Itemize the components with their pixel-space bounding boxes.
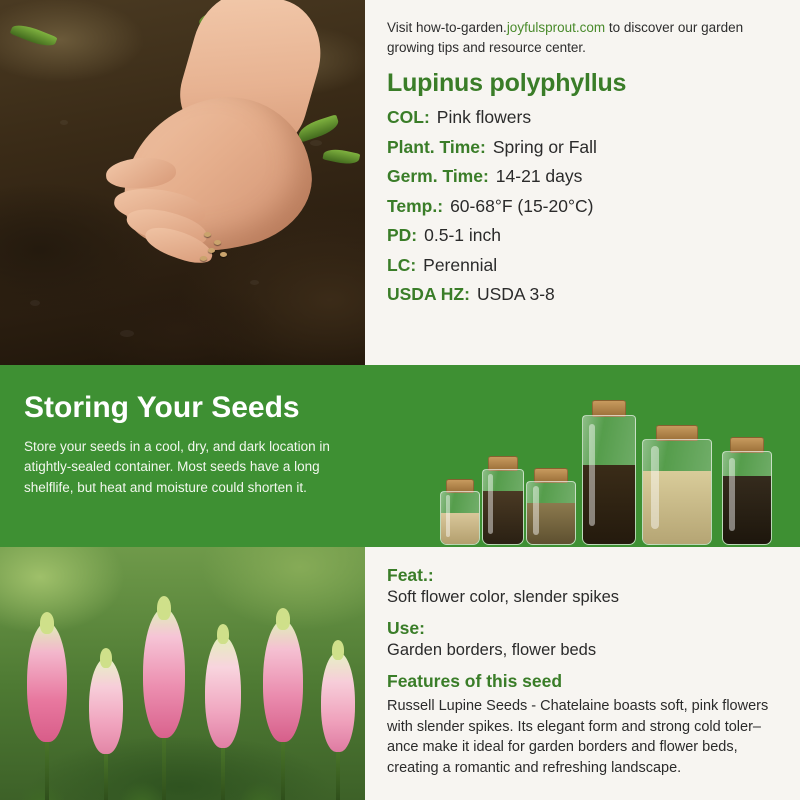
- jar-highlight: [651, 446, 659, 529]
- soil-speck: [250, 280, 259, 285]
- lupine-field-photo: [0, 547, 365, 800]
- spec-key: PD:: [387, 225, 417, 246]
- visit-line: Visit how-to-garden.joyfulsprout.com to …: [387, 18, 778, 57]
- seed: [204, 232, 211, 237]
- spec-key: LC:: [387, 255, 416, 276]
- jar-body: [582, 415, 636, 545]
- use-label: Use:: [387, 618, 778, 639]
- seed-packet-page: Visit how-to-garden.joyfulsprout.com to …: [0, 0, 800, 800]
- storing-title: Storing Your Seeds: [24, 391, 406, 425]
- spec-key: COL:: [387, 107, 430, 128]
- visit-prefix: Visit how-to-garden.: [387, 20, 507, 35]
- spec-key: Plant. Time:: [387, 137, 486, 158]
- top-section: Visit how-to-garden.joyfulsprout.com to …: [0, 0, 800, 365]
- seed-sowing-photo: [0, 0, 365, 365]
- jar-body: [526, 481, 576, 545]
- flower-head: [89, 658, 123, 754]
- spec-row-pd: PD: 0.5-1 inch: [387, 225, 778, 246]
- seed: [220, 252, 227, 257]
- flower-head: [27, 622, 67, 742]
- jar-highlight: [446, 495, 451, 537]
- soil-speck: [30, 300, 40, 306]
- species-name: Lupinus polyphyllus: [387, 69, 778, 98]
- spec-value: Pink flowers: [437, 107, 531, 128]
- seed: [200, 256, 207, 261]
- spec-key: Germ. Time:: [387, 166, 489, 187]
- jar-body: [482, 469, 524, 545]
- website-link[interactable]: joyfulsprout.com: [507, 20, 605, 35]
- lupine-spike: [140, 590, 188, 800]
- jar-highlight: [729, 458, 735, 532]
- info-panel: Visit how-to-garden.joyfulsprout.com to …: [365, 0, 800, 365]
- storing-body: Store your seeds in a cool, dry, and dar…: [24, 437, 369, 498]
- soil-speck: [60, 120, 68, 125]
- spec-value: Spring or Fall: [493, 137, 597, 158]
- spec-row-usda-hz: USDA HZ: USDA 3-8: [387, 284, 778, 305]
- spec-value: 60-68°F (15-20°C): [450, 196, 593, 217]
- lupine-spike: [202, 624, 244, 800]
- feat-value: Soft flower color, slender spikes: [387, 588, 778, 607]
- hand: [92, 40, 342, 270]
- lupine-spike: [318, 640, 358, 800]
- flower-tip: [332, 640, 344, 660]
- spec-row-col: COL: Pink flowers: [387, 107, 778, 128]
- flower-tip: [157, 596, 171, 620]
- flower-head: [263, 620, 303, 742]
- jar-body: [440, 491, 480, 545]
- features-description: Russell Lupine Seeds - Chatelaine boasts…: [387, 696, 778, 778]
- spec-row-temp: Temp.: 60-68°F (15-20°C): [387, 196, 778, 217]
- spec-key: USDA HZ:: [387, 284, 470, 305]
- jar-highlight: [533, 486, 539, 536]
- spec-value: Perennial: [423, 255, 497, 276]
- flower-head: [143, 608, 185, 738]
- seed: [214, 240, 221, 245]
- seed: [208, 248, 215, 253]
- feat-label: Feat.:: [387, 565, 778, 586]
- flower-tip: [217, 624, 229, 644]
- flower-tip: [100, 648, 112, 668]
- flower-tip: [276, 608, 290, 630]
- soil-speck: [120, 330, 134, 337]
- flower-head: [205, 636, 241, 748]
- flower-head: [321, 652, 355, 752]
- flower-tip: [40, 612, 54, 634]
- storing-seeds-band: Storing Your Seeds Store your seeds in a…: [0, 365, 800, 547]
- use-value: Garden borders, flower beds: [387, 641, 778, 660]
- lupine-spike: [86, 650, 126, 800]
- spec-row-plant-time: Plant. Time: Spring or Fall: [387, 137, 778, 158]
- bottom-section: Feat.: Soft flower color, slender spikes…: [0, 547, 800, 800]
- storage-jars-photo: [430, 365, 800, 547]
- spec-key: Temp.:: [387, 196, 443, 217]
- spec-value: 14-21 days: [496, 166, 583, 187]
- jar-highlight: [589, 424, 595, 526]
- spec-value: 0.5-1 inch: [424, 225, 501, 246]
- features-section-title: Features of this seed: [387, 671, 778, 692]
- features-panel: Feat.: Soft flower color, slender spikes…: [365, 547, 800, 800]
- jar-highlight: [488, 474, 493, 533]
- spec-row-lc: LC: Perennial: [387, 255, 778, 276]
- storing-text: Storing Your Seeds Store your seeds in a…: [0, 365, 430, 547]
- lupine-spike: [24, 610, 70, 800]
- jar-body: [642, 439, 712, 545]
- lupine-spike: [260, 604, 306, 800]
- spec-value: USDA 3-8: [477, 284, 555, 305]
- spec-row-germ-time: Germ. Time: 14-21 days: [387, 166, 778, 187]
- jar-body: [722, 451, 772, 545]
